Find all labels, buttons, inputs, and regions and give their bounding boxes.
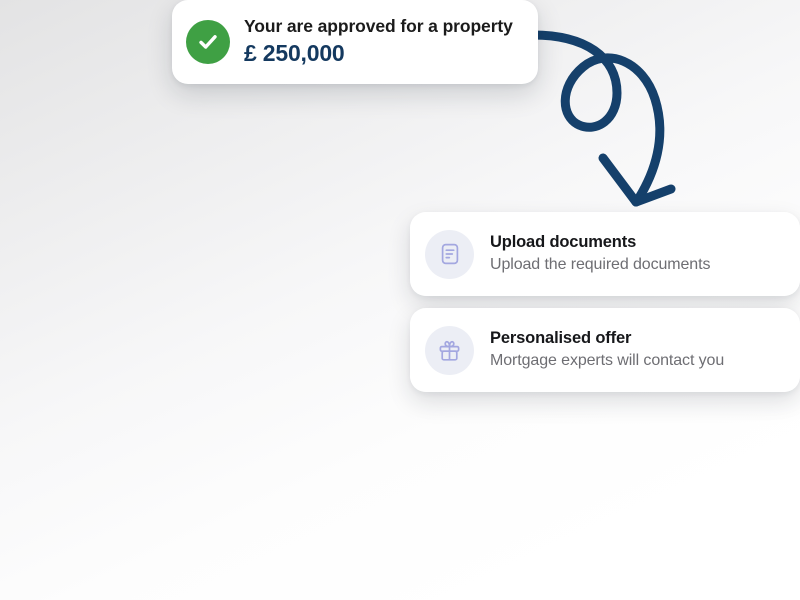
upload-documents-card[interactable]: Upload documents Upload the required doc… [410,212,800,296]
curly-arrow-icon [525,15,700,220]
upload-documents-texts: Upload documents Upload the required doc… [490,233,710,276]
approval-card[interactable]: Your are approved for a property £ 250,0… [172,0,538,84]
gift-icon [425,326,474,375]
approval-amount: £ 250,000 [244,39,513,68]
personalised-offer-texts: Personalised offer Mortgage experts will… [490,329,724,372]
approval-texts: Your are approved for a property £ 250,0… [244,16,513,68]
personalised-offer-subtitle: Mortgage experts will contact you [490,351,724,371]
approval-title: Your are approved for a property [244,16,513,37]
check-circle-icon [186,20,230,64]
upload-documents-subtitle: Upload the required documents [490,255,710,275]
upload-documents-title: Upload documents [490,233,710,253]
document-icon [425,230,474,279]
page-root: Your are approved for a property £ 250,0… [0,0,800,600]
personalised-offer-card[interactable]: Personalised offer Mortgage experts will… [410,308,800,392]
personalised-offer-title: Personalised offer [490,329,724,349]
